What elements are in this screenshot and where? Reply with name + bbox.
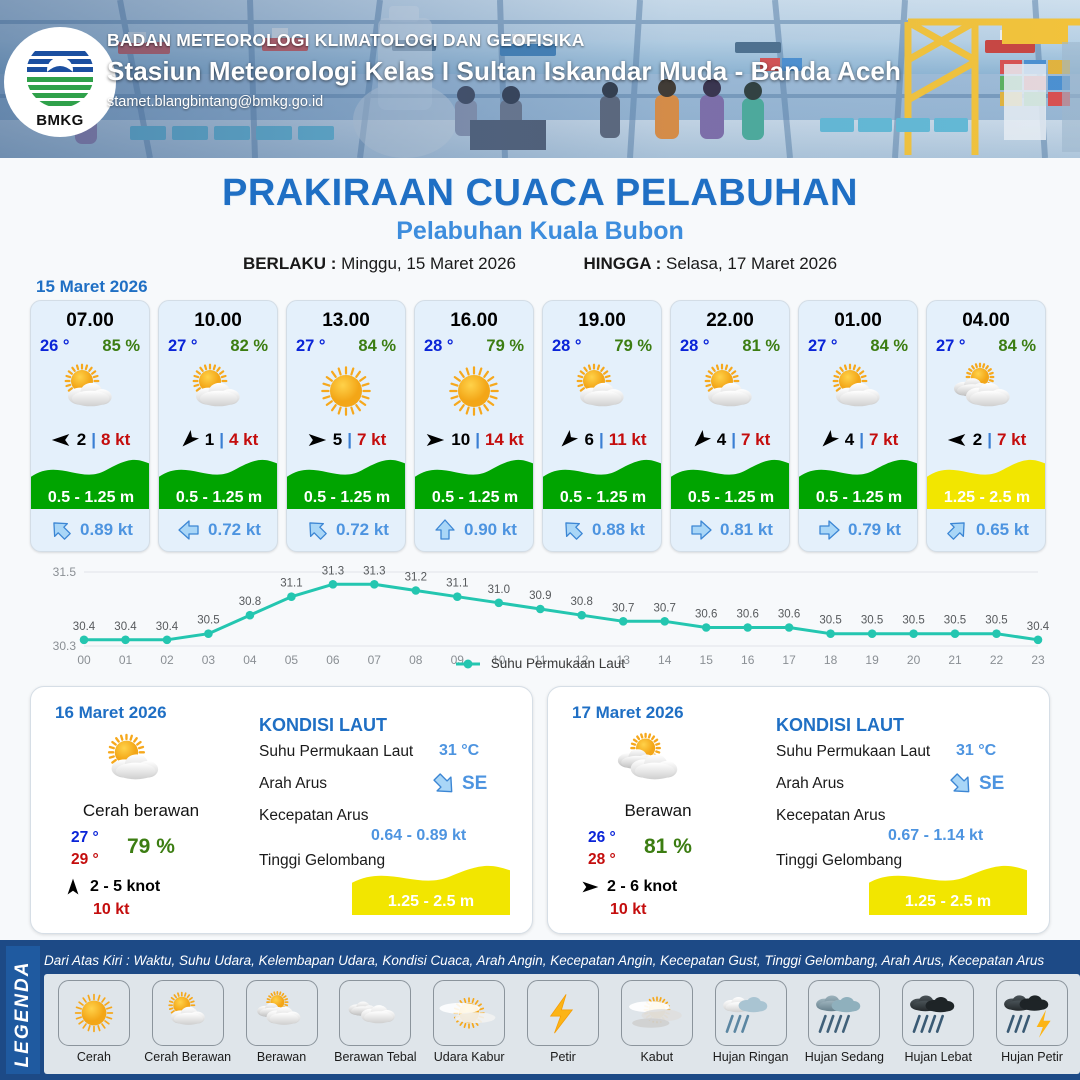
card-temperature: 28 ° [424,337,454,356]
cerah-berawan-icon [83,731,187,795]
sea-condition-title: KONDISI LAUT [776,715,904,736]
wind-direction-icon [580,877,600,897]
daily-date: 16 Maret 2026 [55,703,167,723]
hourly-card: 19.00 28 ° 79 % 6 | 11 kt 0.5 - 1.25 m [542,300,662,552]
daily-wind: 2 - 6 knot [580,877,677,897]
valid-until-label: HINGGA : [583,254,661,273]
cerah-icon [415,360,533,422]
card-time: 22.00 [671,310,789,332]
current-direction-icon [433,518,457,542]
legend-item: Cerah Berawan [144,980,232,1074]
card-temperature: 27 ° [296,337,326,356]
current-speed-value: 0.81 kt [720,520,773,540]
cerah-icon [58,980,130,1046]
page-subtitle: Pelabuhan Kuala Bubon [0,217,1080,246]
legend-item: Cerah [50,980,138,1074]
card-humidity: 79 % [486,337,524,356]
svg-text:30.8: 30.8 [239,596,261,608]
berawan-icon [246,980,318,1046]
berawan-icon [600,731,704,795]
sst-value: 31 °C [439,742,479,760]
daily-wind-value: 2 - 6 knot [607,878,677,896]
legend-item: Kabut [613,980,701,1074]
svg-text:31.2: 31.2 [405,572,427,584]
chart-legend: Suhu Permukaan Laut [0,656,1080,671]
wave-height-value: 0.5 - 1.25 m [159,487,278,509]
wind-speed-value: 5 [333,430,342,450]
card-time: 01.00 [799,310,917,332]
card-temperature: 27 ° [808,337,838,356]
current-speed-label: Kecepatan Arus [259,807,368,825]
legend-item-label: Cerah Berawan [144,1050,232,1064]
card-humidity: 81 % [742,337,780,356]
wave-height-value: 0.5 - 1.25 m [31,487,150,509]
current-direction-icon [431,771,457,797]
current-speed-value: 0.89 kt [80,520,133,540]
wave-height-value: 0.5 - 1.25 m [415,487,534,509]
daily-temperature-range: 26 ° 28 ° [588,827,616,871]
wind-direction-icon [557,429,579,451]
legend-item-label: Kabut [613,1050,701,1064]
daily-temp-max: 28 ° [588,849,616,871]
daily-panel: 16 Maret 2026 Cerah berawan 27 ° 29 ° 79… [30,686,533,934]
legend-item-label: Udara Kabur [425,1050,513,1064]
legend-item: Udara Kabur [425,980,513,1074]
daily-humidity: 79 % [127,835,175,859]
current-direction-label: Arah Arus [776,775,844,793]
hourly-card: 10.00 27 ° 82 % 1 | 4 kt 0.5 - 1.25 m [158,300,278,552]
gust-value: 7 kt [741,430,770,450]
wind-direction-icon [306,429,328,451]
card-time: 19.00 [543,310,661,332]
svg-text:30.7: 30.7 [654,602,676,614]
card-time: 16.00 [415,310,533,332]
valid-until-value: Selasa, 17 Maret 2026 [666,254,837,273]
agency-name: BADAN METEOROLOGI KLIMATOLOGI DAN GEOFIS… [107,30,901,51]
svg-text:31.1: 31.1 [280,578,302,590]
legend-item: Hujan Petir [988,980,1076,1074]
bmkg-logo: BMKG [4,27,116,137]
svg-text:30.4: 30.4 [156,621,179,633]
hujan-ringan-icon [715,980,787,1046]
current-direction-icon [49,518,73,542]
current-speed-value: 0.67 - 1.14 kt [888,827,983,845]
bmkg-logo-text: BMKG [14,112,106,129]
wind-direction-icon [178,429,200,451]
wind-speed-value: 2 [77,430,86,450]
cerah-berawan-icon [31,360,149,422]
gust-value: 14 kt [485,430,524,450]
daily-wave-value: 1.25 - 2.5 m [869,893,1027,911]
daily-gust-value: 10 kt [610,901,646,919]
bmkg-logo-circle [25,39,95,109]
chart-legend-label: Suhu Permukaan Laut [491,656,625,671]
gust-value: 7 kt [357,430,386,450]
legend-item-label: Hujan Ringan [707,1050,795,1064]
legend-item-label: Berawan [238,1050,326,1064]
daily-panel: 17 Maret 2026 Berawan 26 ° 28 ° 81 % 2 -… [547,686,1050,934]
current-direction-value: SE [462,773,487,795]
current-speed-value: 0.79 kt [848,520,901,540]
card-temperature: 27 ° [168,337,198,356]
current-direction-icon [945,518,969,542]
cerah-berawan-icon [799,360,917,422]
svg-text:30.4: 30.4 [73,621,96,633]
title-block: PRAKIRAAN CUACA PELABUHAN Pelabuhan Kual… [0,172,1080,274]
wind-separator: | [219,430,224,450]
hourly-card: 04.00 27 ° 84 % 2 | 7 kt 1.25 - [926,300,1046,552]
legend-note: Dari Atas Kiri : Waktu, Suhu Udara, Kele… [44,948,1076,974]
current-speed-value: 0.90 kt [464,520,517,540]
gust-value: 11 kt [609,430,647,450]
current-direction-icon [177,518,201,542]
wind-separator: | [91,430,96,450]
wind-speed-value: 1 [205,430,214,450]
gust-value: 7 kt [869,430,898,450]
current-direction-icon [561,518,585,542]
current-speed-value: 0.64 - 0.89 kt [371,827,466,845]
svg-text:30.5: 30.5 [861,615,883,627]
svg-text:30.6: 30.6 [737,609,759,621]
current-direction-icon [689,518,713,542]
card-time: 13.00 [287,310,405,332]
current-direction-group: SE [431,771,487,797]
hourly-card: 22.00 28 ° 81 % 4 | 7 kt 0.5 - 1.25 m [670,300,790,552]
cerah-berawan-icon [543,360,661,422]
cerah-berawan-icon [671,360,789,422]
svg-text:30.5: 30.5 [902,615,924,627]
svg-text:31.1: 31.1 [446,578,468,590]
svg-text:30.5: 30.5 [985,615,1007,627]
sea-condition-title: KONDISI LAUT [259,715,387,736]
gust-value: 7 kt [997,430,1026,450]
hujan-lebat-icon [902,980,974,1046]
card-time: 07.00 [31,310,149,332]
svg-text:30.4: 30.4 [114,621,137,633]
svg-text:30.6: 30.6 [778,609,800,621]
hourly-card: 07.00 26 ° 85 % 2 | 8 kt 0.5 - 1.25 m [30,300,150,552]
wind-direction-icon [63,877,83,897]
svg-text:31.3: 31.3 [322,565,344,577]
current-direction-icon [948,771,974,797]
hourly-card: 01.00 27 ° 84 % 4 | 7 kt 0.5 - 1.25 m [798,300,918,552]
hourly-date-label: 15 Maret 2026 [36,277,148,297]
sst-value: 31 °C [956,742,996,760]
current-direction-group: SE [948,771,1004,797]
current-speed-value: 0.88 kt [592,520,645,540]
current-speed-value: 0.65 kt [976,520,1029,540]
daily-wave-value: 1.25 - 2.5 m [352,893,510,911]
wind-direction-icon [690,429,712,451]
svg-text:30.9: 30.9 [529,590,551,602]
legend-item: Hujan Lebat [894,980,982,1074]
daily-wind: 2 - 5 knot [63,877,160,897]
legend-section: LEGENDA Dari Atas Kiri : Waktu, Suhu Uda… [0,940,1080,1080]
card-humidity: 82 % [230,337,268,356]
svg-text:31.3: 31.3 [363,565,385,577]
legend-item: Hujan Ringan [707,980,795,1074]
card-time: 04.00 [927,310,1045,332]
card-humidity: 84 % [358,337,396,356]
wave-height-value: 0.5 - 1.25 m [287,487,406,509]
sst-label: Suhu Permukaan Laut [259,743,413,761]
current-direction-label: Arah Arus [259,775,327,793]
card-humidity: 79 % [614,337,652,356]
legend-item-label: Hujan Sedang [801,1050,889,1064]
daily-temp-max: 29 ° [71,849,99,871]
legend-items-row: Cerah Cerah Berawan Berawan [44,974,1080,1074]
daily-temperature-range: 27 ° 29 ° [71,827,99,871]
valid-from-value: Minggu, 15 Maret 2026 [341,254,516,273]
gust-value: 8 kt [101,430,130,450]
current-direction-icon [817,518,841,542]
wind-separator: | [859,430,864,450]
wind-separator: | [987,430,992,450]
validity-row: BERLAKU : Minggu, 15 Maret 2026 HINGGA :… [0,254,1080,274]
daily-temp-min: 27 ° [71,827,99,849]
wind-speed-value: 4 [845,430,854,450]
svg-text:31.0: 31.0 [488,584,510,596]
hourly-forecast-row: 07.00 26 ° 85 % 2 | 8 kt 0.5 - 1.25 m [30,300,1050,552]
legend-item-label: Hujan Lebat [894,1050,982,1064]
page-header: BMKG BADAN METEOROLOGI KLIMATOLOGI DAN G… [0,0,1080,158]
svg-text:31.5: 31.5 [53,565,77,579]
wind-direction-icon [946,429,968,451]
hujan-petir-icon [996,980,1068,1046]
wind-separator: | [599,430,604,450]
daily-forecast-panels: 16 Maret 2026 Cerah berawan 27 ° 29 ° 79… [30,686,1050,934]
station-email: stamet.blangbintang@bmkg.go.id [107,94,901,110]
wind-speed-value: 10 [451,430,470,450]
legend-item: Petir [519,980,607,1074]
daily-gust-value: 10 kt [93,901,129,919]
svg-text:30.4: 30.4 [1027,621,1050,633]
cerah-berawan-icon [159,360,277,422]
wave-height-value: 1.25 - 2.5 m [927,487,1046,509]
wind-direction-icon [424,429,446,451]
daily-condition: Berawan [548,801,768,821]
svg-text:30.5: 30.5 [197,615,219,627]
card-time: 10.00 [159,310,277,332]
petir-icon [527,980,599,1046]
sst-label: Suhu Permukaan Laut [776,743,930,761]
svg-text:30.5: 30.5 [944,615,966,627]
card-temperature: 26 ° [40,337,70,356]
card-temperature: 27 ° [936,337,966,356]
card-temperature: 28 ° [552,337,582,356]
gust-value: 4 kt [229,430,258,450]
wind-separator: | [731,430,736,450]
wind-separator: | [475,430,480,450]
svg-text:30.3: 30.3 [53,639,77,653]
legend-tab-label: LEGENDA [12,950,34,1078]
svg-text:30.8: 30.8 [571,596,593,608]
legend-item-label: Hujan Petir [988,1050,1076,1064]
wave-height-value: 0.5 - 1.25 m [799,487,918,509]
cerah-icon [287,360,405,422]
daily-date: 17 Maret 2026 [572,703,684,723]
card-humidity: 84 % [870,337,908,356]
card-humidity: 85 % [102,337,140,356]
current-speed-value: 0.72 kt [336,520,389,540]
udara-kabur-icon [433,980,505,1046]
hujan-sedang-icon [808,980,880,1046]
wave-height-value: 0.5 - 1.25 m [671,487,790,509]
current-direction-value: SE [979,773,1004,795]
wind-separator: | [347,430,352,450]
current-speed-value: 0.72 kt [208,520,261,540]
station-name: Stasiun Meteorologi Kelas I Sultan Iskan… [107,56,901,87]
wave-height-value: 0.5 - 1.25 m [543,487,662,509]
wind-speed-value: 2 [973,430,982,450]
current-direction-icon [305,518,329,542]
wind-speed-value: 6 [584,430,593,450]
header-text-block: BADAN METEOROLOGI KLIMATOLOGI DAN GEOFIS… [107,30,901,110]
kabut-icon [621,980,693,1046]
infographic-page: BMKG BADAN METEOROLOGI KLIMATOLOGI DAN G… [0,0,1080,1080]
legend-item-label: Berawan Tebal [331,1050,419,1064]
page-title: PRAKIRAAN CUACA PELABUHAN [0,172,1080,215]
legend-item-label: Petir [519,1050,607,1064]
hourly-card: 16.00 28 ° 79 % 10 | 14 kt 0.5 - 1.25 m … [414,300,534,552]
daily-condition: Cerah berawan [31,801,251,821]
legend-item-label: Cerah [50,1050,138,1064]
daily-wind-value: 2 - 5 knot [90,878,160,896]
svg-text:30.6: 30.6 [695,609,717,621]
valid-from-label: BERLAKU : [243,254,337,273]
card-humidity: 84 % [998,337,1036,356]
daily-temp-min: 26 ° [588,827,616,849]
wind-direction-icon [50,429,72,451]
svg-text:30.7: 30.7 [612,602,634,614]
wind-speed-value: 4 [717,430,726,450]
legend-tab: LEGENDA [6,946,40,1074]
legend-item: Berawan [238,980,326,1074]
cerah-berawan-icon [152,980,224,1046]
chart-legend-marker [455,658,481,670]
daily-humidity: 81 % [644,835,692,859]
berawan-icon [927,360,1045,422]
card-temperature: 28 ° [680,337,710,356]
current-speed-label: Kecepatan Arus [776,807,885,825]
wind-direction-icon [818,429,840,451]
berawan-tebal-icon [339,980,411,1046]
svg-text:30.5: 30.5 [819,615,841,627]
hourly-card: 13.00 27 ° 84 % 5 | 7 kt 0.5 - 1.25 m 0.… [286,300,406,552]
legend-item: Berawan Tebal [331,980,419,1074]
legend-item: Hujan Sedang [801,980,889,1074]
